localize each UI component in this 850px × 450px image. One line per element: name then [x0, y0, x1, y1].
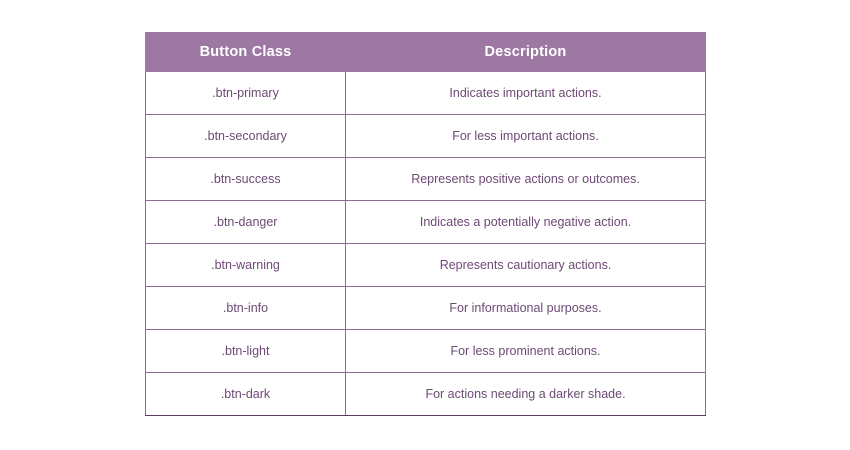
- table-row: .btn-danger Indicates a potentially nega…: [146, 201, 706, 244]
- cell-button-class: .btn-danger: [146, 201, 346, 244]
- table-row: .btn-primary Indicates important actions…: [146, 72, 706, 115]
- button-class-table: Button Class Description .btn-primary In…: [145, 32, 706, 416]
- cell-button-class: .btn-dark: [146, 373, 346, 416]
- column-header-description: Description: [346, 33, 706, 72]
- cell-description: For less prominent actions.: [346, 330, 706, 373]
- cell-button-class: .btn-info: [146, 287, 346, 330]
- cell-description: Indicates a potentially negative action.: [346, 201, 706, 244]
- page-root: Button Class Description .btn-primary In…: [0, 0, 850, 450]
- cell-button-class: .btn-primary: [146, 72, 346, 115]
- table-row: .btn-light For less prominent actions.: [146, 330, 706, 373]
- cell-description: Represents positive actions or outcomes.: [346, 158, 706, 201]
- table-row: .btn-info For informational purposes.: [146, 287, 706, 330]
- table-row: .btn-secondary For less important action…: [146, 115, 706, 158]
- cell-description: Represents cautionary actions.: [346, 244, 706, 287]
- cell-button-class: .btn-success: [146, 158, 346, 201]
- cell-description: For less important actions.: [346, 115, 706, 158]
- button-class-table-container: Button Class Description .btn-primary In…: [145, 32, 705, 416]
- cell-description: Indicates important actions.: [346, 72, 706, 115]
- table-row: .btn-dark For actions needing a darker s…: [146, 373, 706, 416]
- cell-button-class: .btn-secondary: [146, 115, 346, 158]
- table-header: Button Class Description: [146, 33, 706, 72]
- table-row: .btn-warning Represents cautionary actio…: [146, 244, 706, 287]
- table-row: .btn-success Represents positive actions…: [146, 158, 706, 201]
- cell-description: For informational purposes.: [346, 287, 706, 330]
- table-header-row: Button Class Description: [146, 33, 706, 72]
- cell-button-class: .btn-light: [146, 330, 346, 373]
- column-header-button-class: Button Class: [146, 33, 346, 72]
- table-body: .btn-primary Indicates important actions…: [146, 72, 706, 416]
- cell-description: For actions needing a darker shade.: [346, 373, 706, 416]
- cell-button-class: .btn-warning: [146, 244, 346, 287]
